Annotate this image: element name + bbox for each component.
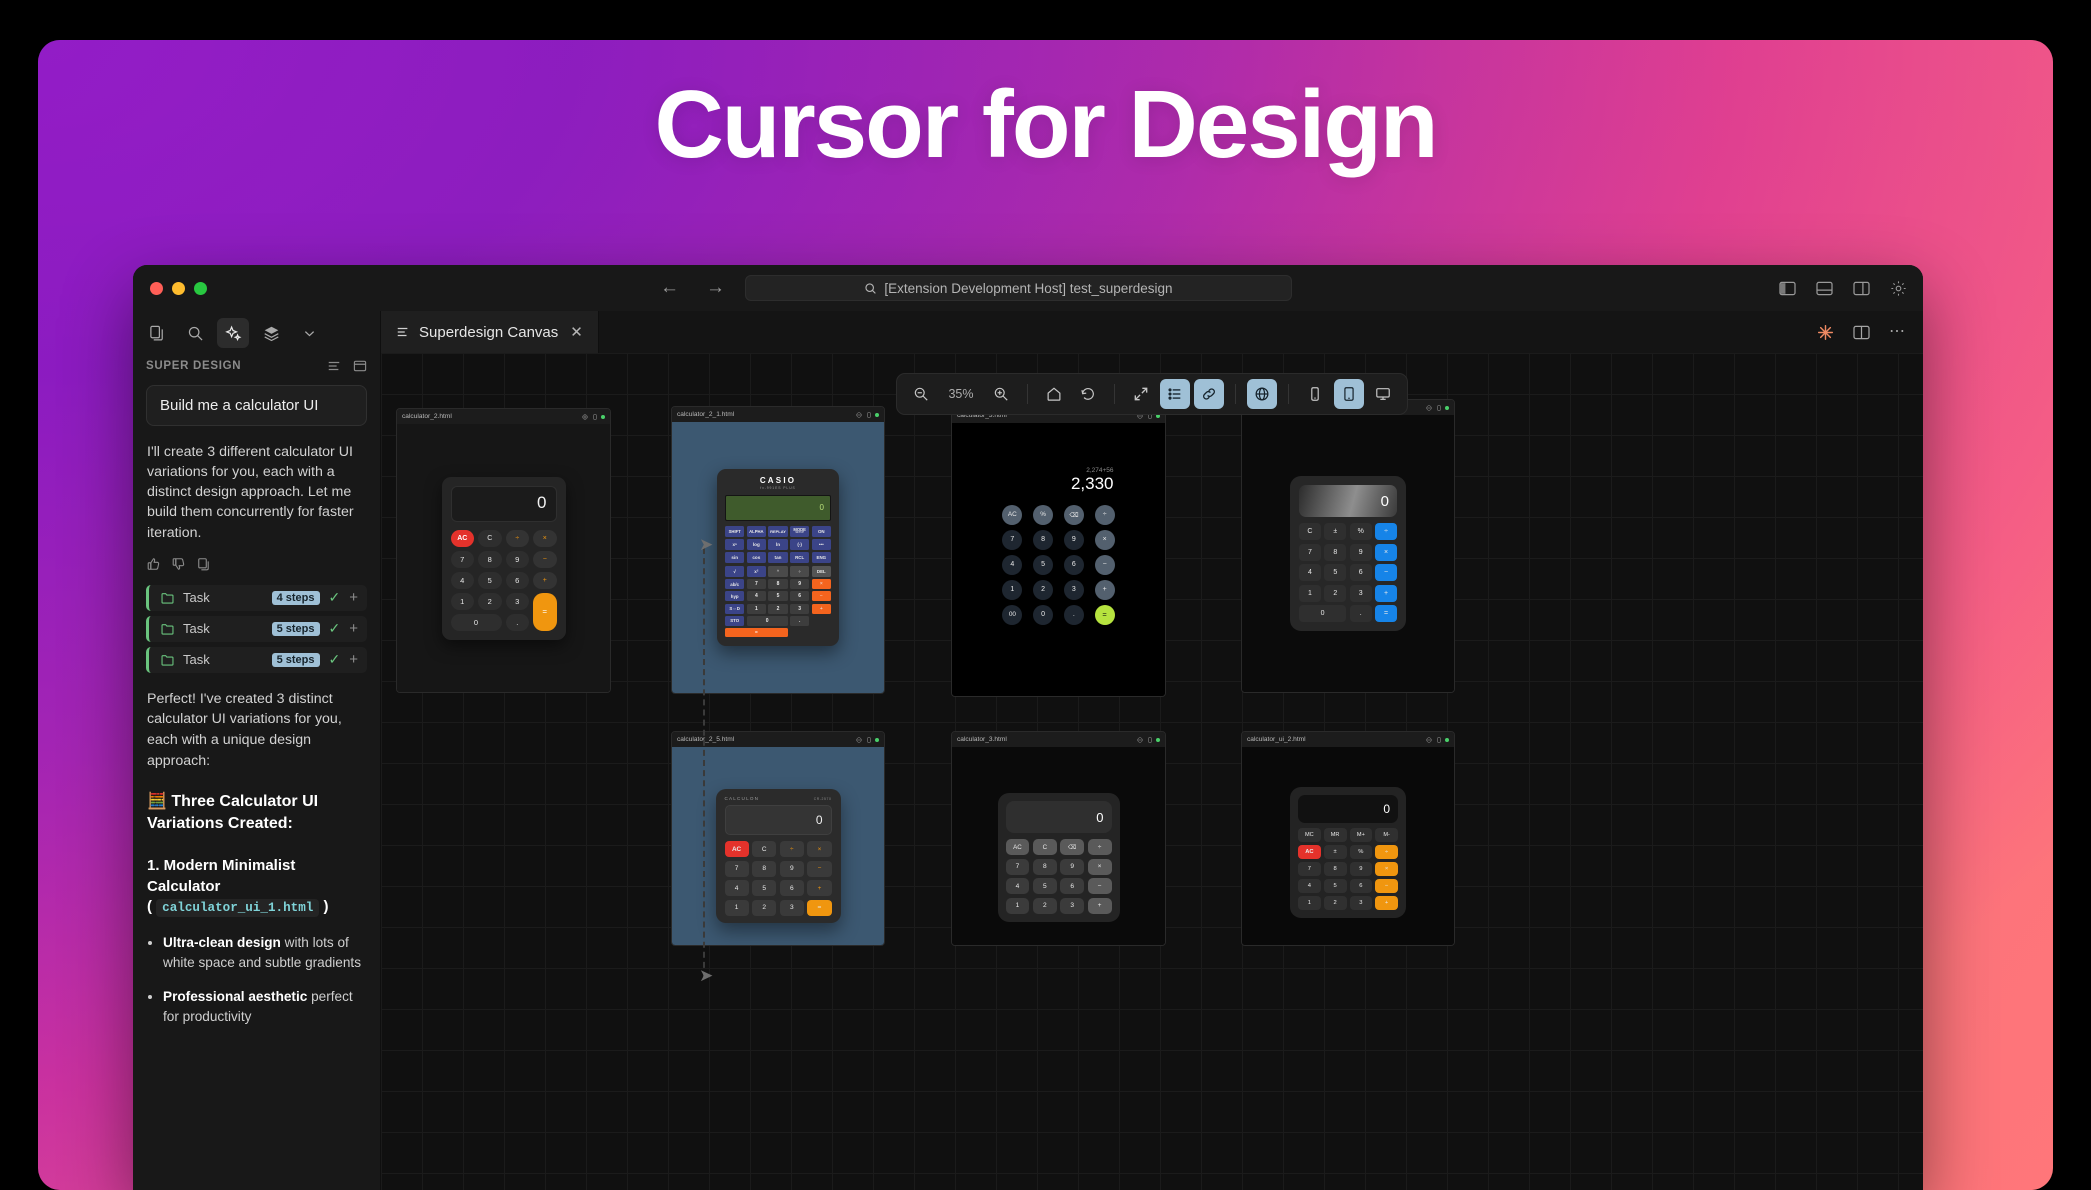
tablet-icon[interactable] bbox=[1147, 737, 1153, 743]
add-icon[interactable]: + bbox=[349, 589, 358, 606]
card-preview: 0 C ± % ÷ 7 8 9 × bbox=[1242, 415, 1454, 692]
key-mode[interactable]: MODESETUP bbox=[790, 526, 809, 537]
toolbar-separator bbox=[1027, 384, 1028, 404]
key-minus[interactable]: − bbox=[1375, 564, 1397, 581]
window-body: SUPER DESIGN Build me a calculator UI I'… bbox=[133, 311, 1923, 1190]
toolbar-separator bbox=[1288, 384, 1289, 404]
check-icon[interactable]: ✓ bbox=[329, 620, 341, 637]
key-6[interactable]: 6 bbox=[790, 591, 809, 601]
sparkle-icon[interactable] bbox=[217, 318, 249, 348]
lines-icon bbox=[396, 325, 410, 339]
key-5[interactable]: 5 bbox=[752, 880, 776, 896]
phone-icon[interactable] bbox=[1300, 379, 1330, 409]
card-icons[interactable] bbox=[856, 412, 879, 418]
list-item: Professional aesthetic perfect for produ… bbox=[163, 987, 366, 1028]
design-card[interactable]: calculator_3.html 2,274+56 bbox=[951, 407, 1166, 697]
key-4[interactable]: 4 bbox=[1299, 564, 1321, 581]
calculator-keypad[interactable]: AC C ÷ × 7 8 9 − 4 5 bbox=[725, 841, 832, 916]
bullet-bold: Ultra-clean design bbox=[163, 935, 281, 950]
tablet-icon[interactable] bbox=[1436, 737, 1442, 743]
key-3[interactable]: 3 bbox=[790, 604, 809, 614]
sidebar-header: SUPER DESIGN bbox=[133, 355, 380, 381]
globe-icon[interactable] bbox=[1137, 737, 1143, 743]
assistant-message: I'll create 3 different calculator UI va… bbox=[147, 442, 366, 543]
activity-bar[interactable] bbox=[133, 311, 380, 355]
key-4[interactable]: 4 bbox=[1002, 555, 1022, 575]
key-6[interactable]: 6 bbox=[1350, 564, 1372, 581]
design-canvas[interactable]: 35% bbox=[381, 353, 1923, 1190]
list-item: Ultra-clean design with lots of white sp… bbox=[163, 933, 366, 974]
key-power[interactable]: xⁿ bbox=[725, 539, 744, 550]
key-multiply[interactable]: × bbox=[812, 579, 831, 589]
key-ac[interactable]: AC bbox=[725, 841, 749, 857]
key-plus[interactable]: + bbox=[1375, 585, 1397, 602]
card-icons[interactable] bbox=[1426, 405, 1449, 411]
key-tan[interactable]: tan bbox=[768, 552, 787, 563]
key-plus[interactable]: + bbox=[533, 572, 557, 589]
display-value: 0 bbox=[1383, 802, 1390, 816]
key-3[interactable]: 3 bbox=[780, 900, 804, 916]
key-plus[interactable]: + bbox=[1088, 898, 1112, 914]
key-0[interactable]: 0 bbox=[1033, 605, 1053, 625]
calculator-display: 2,274+56 2,330 bbox=[1000, 467, 1118, 494]
key-del[interactable]: DEL bbox=[812, 566, 831, 577]
key-3[interactable]: 3 bbox=[1060, 898, 1084, 914]
task-row[interactable]: Task 5 steps ✓ + bbox=[146, 616, 367, 642]
key-5[interactable]: 5 bbox=[1324, 879, 1347, 893]
key-5[interactable]: 5 bbox=[768, 591, 787, 601]
key-3[interactable]: 3 bbox=[1064, 580, 1084, 600]
key-1[interactable]: 1 bbox=[1298, 896, 1321, 910]
expression-text: 2,274+56 bbox=[1000, 467, 1114, 474]
nav-arrows[interactable]: ← → bbox=[660, 277, 725, 299]
key-rcl[interactable]: RCL bbox=[790, 552, 809, 563]
key-sin[interactable]: sin bbox=[725, 552, 744, 563]
calculator-display: 0 bbox=[1298, 795, 1398, 823]
prompt-input[interactable]: Build me a calculator UI bbox=[146, 385, 367, 426]
status-dot bbox=[1445, 406, 1449, 410]
key-equals[interactable]: = bbox=[725, 628, 788, 637]
key-7[interactable]: 7 bbox=[1298, 862, 1321, 876]
key-alpha[interactable]: ALPHA bbox=[747, 526, 766, 537]
tablet-icon[interactable] bbox=[592, 414, 598, 420]
calculator-display: 0 bbox=[725, 805, 832, 835]
key-on[interactable]: ON bbox=[812, 526, 831, 537]
key-m-plus[interactable]: M+ bbox=[1350, 828, 1373, 842]
key-dot[interactable]: . bbox=[1350, 605, 1372, 622]
key-6[interactable]: 6 bbox=[1064, 555, 1084, 575]
key-log[interactable]: log bbox=[747, 539, 766, 550]
traffic-lights[interactable] bbox=[133, 282, 207, 295]
status-dot bbox=[1156, 738, 1160, 742]
key-6[interactable]: 6 bbox=[1350, 879, 1373, 893]
calculator-brand-row: CALCULON CR-2570 bbox=[725, 796, 832, 801]
calculator-body: 0 AC C ÷ × 7 8 9 − bbox=[442, 477, 566, 640]
message-reactions[interactable] bbox=[147, 557, 380, 571]
key-divide[interactable]: ÷ bbox=[1088, 839, 1112, 855]
key-negate[interactable]: (-) bbox=[790, 539, 809, 550]
task-row[interactable]: Task 5 steps ✓ + bbox=[146, 647, 367, 673]
calculator-body: 2,274+56 2,330 AC % ⌫ ÷ 7 8 bbox=[1000, 467, 1118, 625]
design-card[interactable]: calculator_ui_2.html 0 bbox=[1241, 731, 1455, 946]
key-c[interactable]: C bbox=[478, 530, 502, 547]
key-multiply[interactable]: × bbox=[1375, 544, 1397, 561]
key-0[interactable]: 0 bbox=[747, 616, 788, 626]
globe-icon[interactable] bbox=[1426, 405, 1432, 411]
key-multiply[interactable]: × bbox=[1375, 862, 1398, 876]
key-multiply[interactable]: × bbox=[807, 841, 831, 857]
key-8[interactable]: 8 bbox=[478, 551, 502, 568]
panel-icon[interactable] bbox=[353, 359, 367, 373]
thumbs-down-icon[interactable] bbox=[172, 557, 186, 571]
task-label: Task bbox=[183, 621, 263, 636]
tablet-icon[interactable] bbox=[866, 412, 872, 418]
key-1[interactable]: 1 bbox=[451, 593, 475, 610]
key-divide[interactable]: ÷ bbox=[1375, 845, 1398, 859]
variation-heading: 1. Modern Minimalist Calculator ( calcul… bbox=[147, 856, 366, 917]
key-sd[interactable]: S⇔D bbox=[725, 604, 744, 614]
key-hyp[interactable]: hyp bbox=[725, 591, 744, 601]
key-caret[interactable]: ^ bbox=[768, 566, 787, 577]
status-dot bbox=[875, 413, 879, 417]
key-0[interactable]: 0 bbox=[451, 614, 502, 631]
key-minus[interactable]: − bbox=[533, 551, 557, 568]
key-ac[interactable]: AC bbox=[1006, 839, 1030, 855]
zoom-level[interactable]: 35% bbox=[940, 387, 982, 401]
key-6[interactable]: 6 bbox=[506, 572, 530, 589]
key-7[interactable]: 7 bbox=[1002, 530, 1022, 550]
tab-label: Superdesign Canvas bbox=[419, 324, 558, 341]
key-dot[interactable]: . bbox=[506, 614, 530, 631]
key-divide[interactable]: ÷ bbox=[1375, 523, 1397, 540]
zoom-out-icon[interactable] bbox=[906, 379, 936, 409]
key-2[interactable]: 2 bbox=[478, 593, 502, 610]
section-heading: 🧮 Three Calculator UI Variations Created… bbox=[147, 791, 366, 834]
status-dot bbox=[601, 415, 605, 419]
globe-icon[interactable] bbox=[856, 412, 862, 418]
calculator-display: 0 bbox=[451, 486, 557, 522]
key-ac[interactable]: AC bbox=[1298, 845, 1321, 859]
key-equals[interactable]: = bbox=[1375, 605, 1397, 622]
design-card[interactable]: calculator_3.html 0 bbox=[951, 731, 1166, 946]
layers-icon[interactable] bbox=[255, 318, 287, 348]
sidebar-header-icons[interactable] bbox=[327, 359, 367, 373]
display-value: 0 bbox=[820, 503, 824, 512]
card-preview: 0 AC C ⌫ ÷ 7 8 9 × bbox=[952, 747, 1165, 945]
folder-icon bbox=[161, 623, 174, 635]
task-steps-badge: 4 steps bbox=[272, 591, 320, 605]
panel-left-icon[interactable] bbox=[1779, 281, 1796, 296]
panel-right-icon[interactable] bbox=[1853, 281, 1870, 296]
key-mc[interactable]: MC bbox=[1298, 828, 1321, 842]
key-eng[interactable]: ENG bbox=[812, 552, 831, 563]
key-7[interactable]: 7 bbox=[1006, 859, 1030, 875]
folder-icon bbox=[161, 654, 174, 666]
home-icon[interactable] bbox=[1039, 379, 1069, 409]
key-backspace[interactable]: ⌫ bbox=[1060, 839, 1084, 855]
key-blank bbox=[812, 616, 831, 626]
key-5[interactable]: 5 bbox=[478, 572, 502, 589]
minimize-window-button[interactable] bbox=[172, 282, 185, 295]
thumbs-up-icon[interactable] bbox=[147, 557, 161, 571]
key-ln[interactable]: ln bbox=[768, 539, 787, 550]
card-icons[interactable] bbox=[582, 414, 605, 420]
more-icon[interactable]: ⋯ bbox=[1889, 328, 1907, 336]
canvas-toolbar[interactable]: 35% bbox=[896, 373, 1408, 415]
tablet-icon[interactable] bbox=[1436, 405, 1442, 411]
card-titlebar: calculator_2_1.html bbox=[672, 407, 884, 422]
titlebar-right-icons[interactable] bbox=[1779, 280, 1907, 297]
key-ac[interactable]: AC bbox=[1002, 505, 1022, 525]
key-minus[interactable]: − bbox=[807, 861, 831, 877]
add-icon[interactable]: + bbox=[349, 651, 358, 668]
search-icon[interactable] bbox=[179, 318, 211, 348]
key-shift[interactable]: SHIFT bbox=[725, 526, 744, 537]
zoom-in-icon[interactable] bbox=[986, 379, 1016, 409]
status-dot bbox=[1445, 738, 1449, 742]
key-plus[interactable]: + bbox=[807, 880, 831, 896]
key-8[interactable]: 8 bbox=[768, 579, 787, 589]
key-1[interactable]: 1 bbox=[1006, 898, 1030, 914]
key-2[interactable]: 2 bbox=[1033, 580, 1053, 600]
key-9[interactable]: 9 bbox=[790, 579, 809, 589]
key-9[interactable]: 9 bbox=[506, 551, 530, 568]
key-c[interactable]: C bbox=[752, 841, 776, 857]
key-8[interactable]: 8 bbox=[752, 861, 776, 877]
card-filename: calculator_2.html bbox=[402, 413, 452, 420]
key-percent[interactable]: % bbox=[1350, 845, 1373, 859]
casio-display: 0 bbox=[725, 495, 831, 521]
summary-text: Perfect! I've created 3 distinct calcula… bbox=[147, 689, 366, 771]
key-minus[interactable]: − bbox=[1095, 555, 1115, 575]
key-1[interactable]: 1 bbox=[1299, 585, 1321, 602]
globe-icon[interactable] bbox=[856, 737, 862, 743]
key-sqrt[interactable]: √ bbox=[725, 566, 744, 577]
globe-icon[interactable] bbox=[1247, 379, 1277, 409]
task-label: Task bbox=[183, 652, 263, 667]
casio-model: fx-991ES PLUS bbox=[725, 486, 831, 490]
key-1[interactable]: 1 bbox=[1002, 580, 1022, 600]
panel-bottom-icon[interactable] bbox=[1816, 281, 1833, 296]
calculator-body: 0 MC MR M+ M- AC ± % ÷ bbox=[1290, 787, 1406, 918]
casio-calculator-body: CASIO fx-991ES PLUS 0 SHIFT ALPHA REPLAY… bbox=[717, 469, 839, 646]
window-titlebar: ← → [Extension Development Host] test_su… bbox=[133, 265, 1923, 311]
card-titlebar: calculator_3.html bbox=[952, 732, 1165, 747]
connector-arrow: ➤ bbox=[699, 966, 713, 986]
key-8[interactable]: 8 bbox=[1324, 862, 1347, 876]
list-view-icon[interactable] bbox=[1160, 379, 1190, 409]
sparkle-burst-icon[interactable] bbox=[1817, 324, 1834, 341]
paren-open: ( bbox=[147, 898, 152, 915]
key-1[interactable]: 1 bbox=[725, 900, 749, 916]
key-divide[interactable]: ÷ bbox=[780, 841, 804, 857]
calculator-keypad[interactable]: C ± % ÷ 7 8 9 × 4 5 bbox=[1299, 523, 1397, 622]
calculator-brand: CALCULON bbox=[725, 796, 760, 801]
calculator-keypad[interactable]: AC C ⌫ ÷ 7 8 9 × 4 5 bbox=[1006, 839, 1112, 914]
key-8[interactable]: 8 bbox=[1033, 530, 1053, 550]
expand-icon[interactable] bbox=[1126, 379, 1156, 409]
desktop-icon[interactable] bbox=[1368, 379, 1398, 409]
key-2[interactable]: 2 bbox=[752, 900, 776, 916]
key-9[interactable]: 9 bbox=[1350, 544, 1372, 561]
copy-icon[interactable] bbox=[197, 557, 211, 571]
calculator-keypad[interactable]: AC % ⌫ ÷ 7 8 9 × 4 5 bbox=[1000, 505, 1118, 625]
key-minus[interactable]: − bbox=[1088, 878, 1112, 894]
connector-line bbox=[703, 548, 705, 978]
key-7[interactable]: 7 bbox=[1299, 544, 1321, 561]
key-5[interactable]: 5 bbox=[1033, 878, 1057, 894]
key-equals[interactable]: = bbox=[1095, 605, 1115, 625]
card-filename: calculator_3.html bbox=[957, 736, 1007, 743]
key-2[interactable]: 2 bbox=[1033, 898, 1057, 914]
link-icon[interactable] bbox=[1194, 379, 1224, 409]
key-dots[interactable]: ••• bbox=[812, 539, 831, 550]
key-multiply[interactable]: × bbox=[1095, 530, 1115, 550]
key-percent[interactable]: % bbox=[1350, 523, 1372, 540]
check-icon[interactable]: ✓ bbox=[329, 589, 341, 606]
key-4[interactable]: 4 bbox=[725, 880, 749, 896]
key-4[interactable]: 4 bbox=[747, 591, 766, 601]
key-7[interactable]: 7 bbox=[451, 551, 475, 568]
key-c[interactable]: C bbox=[1033, 839, 1057, 855]
card-icons[interactable] bbox=[1426, 737, 1449, 743]
key-c[interactable]: C bbox=[1299, 523, 1321, 540]
globe-icon[interactable] bbox=[582, 414, 588, 420]
key-double-zero[interactable]: 00 bbox=[1002, 605, 1022, 625]
key-dot[interactable]: . bbox=[1064, 605, 1084, 625]
card-preview: 0 AC C ÷ × 7 8 9 − bbox=[397, 424, 610, 692]
key-equals[interactable]: = bbox=[807, 900, 831, 916]
key-2[interactable]: 2 bbox=[768, 604, 787, 614]
gear-icon[interactable] bbox=[1890, 280, 1907, 297]
key-7[interactable]: 7 bbox=[747, 579, 766, 589]
tablet-icon[interactable] bbox=[1334, 379, 1364, 409]
close-window-button[interactable] bbox=[150, 282, 163, 295]
screenshot-root: Cursor for Design ← → [Extension Develop… bbox=[0, 0, 2091, 1190]
maximize-window-button[interactable] bbox=[194, 282, 207, 295]
key-backspace[interactable]: ⌫ bbox=[1064, 505, 1084, 525]
calculator-keypad[interactable]: MC MR M+ M- AC ± % ÷ 7 8 bbox=[1298, 828, 1398, 910]
tab-superdesign-canvas[interactable]: Superdesign Canvas ✕ bbox=[381, 311, 599, 353]
key-4[interactable]: 4 bbox=[451, 572, 475, 589]
calculator-model: CR-2570 bbox=[814, 797, 832, 801]
task-list: Task 4 steps ✓ + Task 5 steps ✓ + bbox=[146, 585, 367, 673]
key-2[interactable]: 2 bbox=[1324, 896, 1347, 910]
key-4[interactable]: 4 bbox=[1006, 878, 1030, 894]
key-square[interactable]: x² bbox=[747, 566, 766, 577]
key-multiply[interactable]: × bbox=[1088, 859, 1112, 875]
casio-keypad[interactable]: SHIFT ALPHA REPLAY MODESETUP ON xⁿ log l… bbox=[725, 526, 831, 637]
back-arrow-icon[interactable]: ← bbox=[660, 277, 679, 299]
key-plus[interactable]: + bbox=[1375, 896, 1398, 910]
split-editor-icon[interactable] bbox=[1853, 325, 1870, 340]
key-divide[interactable]: ÷ bbox=[790, 566, 809, 577]
list-icon[interactable] bbox=[327, 359, 341, 373]
key-5[interactable]: 5 bbox=[1033, 555, 1053, 575]
variation-title: 1. Modern Minimalist Calculator bbox=[147, 857, 295, 894]
check-icon[interactable]: ✓ bbox=[329, 651, 341, 668]
add-icon[interactable]: + bbox=[349, 620, 358, 637]
key-mr[interactable]: MR bbox=[1324, 828, 1347, 842]
tabbar-actions[interactable]: ⋯ bbox=[1817, 311, 1923, 353]
key-2[interactable]: 2 bbox=[1324, 585, 1346, 602]
variation-filename[interactable]: calculator_ui_1.html bbox=[156, 899, 319, 917]
key-equals[interactable]: = bbox=[533, 593, 557, 631]
key-8[interactable]: 8 bbox=[1324, 544, 1346, 561]
abacus-icon: 🧮 bbox=[147, 793, 167, 810]
omnibox[interactable]: [Extension Development Host] test_superd… bbox=[745, 275, 1292, 301]
tablet-icon[interactable] bbox=[866, 737, 872, 743]
key-divide[interactable]: ÷ bbox=[1095, 505, 1115, 525]
key-multiply[interactable]: × bbox=[533, 530, 557, 547]
key-dot[interactable]: . bbox=[790, 616, 809, 626]
key-1[interactable]: 1 bbox=[747, 604, 766, 614]
key-abc[interactable]: ab/c bbox=[725, 579, 744, 589]
chevron-down-icon[interactable] bbox=[293, 318, 325, 348]
sidebar: SUPER DESIGN Build me a calculator UI I'… bbox=[133, 311, 381, 1190]
key-0[interactable]: 0 bbox=[1299, 605, 1346, 622]
key-plus-minus[interactable]: ± bbox=[1324, 845, 1347, 859]
calculator-keypad[interactable]: AC C ÷ × 7 8 9 − 4 5 bbox=[451, 530, 557, 631]
calculator-body: CALCULON CR-2570 0 AC C ÷ bbox=[716, 789, 841, 923]
key-divide[interactable]: ÷ bbox=[506, 530, 530, 547]
omnibox-text: [Extension Development Host] test_superd… bbox=[884, 281, 1172, 296]
key-9[interactable]: 9 bbox=[1064, 530, 1084, 550]
key-ac[interactable]: AC bbox=[451, 530, 475, 547]
task-label: Task bbox=[183, 590, 263, 605]
key-8[interactable]: 8 bbox=[1033, 859, 1057, 875]
key-3[interactable]: 3 bbox=[1350, 896, 1373, 910]
card-filename: calculator_2_1.html bbox=[677, 411, 734, 418]
key-replay[interactable]: REPLAY bbox=[768, 526, 787, 537]
design-card[interactable]: calculator_ui_1.html 0 bbox=[1241, 399, 1455, 693]
tab-bar: Superdesign Canvas ✕ ⋯ bbox=[381, 311, 1923, 353]
task-row[interactable]: Task 4 steps ✓ + bbox=[146, 585, 367, 611]
key-m-minus[interactable]: M- bbox=[1375, 828, 1398, 842]
card-icons[interactable] bbox=[1137, 737, 1160, 743]
key-9[interactable]: 9 bbox=[1350, 862, 1373, 876]
key-5[interactable]: 5 bbox=[1324, 564, 1346, 581]
toolbar-separator bbox=[1114, 384, 1115, 404]
card-filename: calculator_2_5.html bbox=[677, 736, 734, 743]
key-minus[interactable]: − bbox=[812, 591, 831, 601]
globe-icon[interactable] bbox=[1426, 737, 1432, 743]
section-heading-text: Three Calculator UI Variations Created: bbox=[147, 793, 318, 832]
key-plus-minus[interactable]: ± bbox=[1324, 523, 1346, 540]
forward-arrow-icon[interactable]: → bbox=[706, 277, 725, 299]
close-icon[interactable]: ✕ bbox=[570, 323, 583, 341]
files-icon[interactable] bbox=[141, 318, 173, 348]
key-7[interactable]: 7 bbox=[725, 861, 749, 877]
design-card[interactable]: calculator_2.html 0 bbox=[396, 408, 611, 693]
key-sto[interactable]: STO bbox=[725, 616, 744, 626]
key-6[interactable]: 6 bbox=[1060, 878, 1084, 894]
key-9[interactable]: 9 bbox=[1060, 859, 1084, 875]
key-cos[interactable]: cos bbox=[747, 552, 766, 563]
key-6[interactable]: 6 bbox=[780, 880, 804, 896]
key-minus[interactable]: − bbox=[1375, 879, 1398, 893]
key-plus[interactable]: + bbox=[812, 604, 831, 614]
key-plus[interactable]: + bbox=[1095, 580, 1115, 600]
reset-icon[interactable] bbox=[1073, 379, 1103, 409]
key-3[interactable]: 3 bbox=[506, 593, 530, 610]
key-percent[interactable]: % bbox=[1033, 505, 1053, 525]
key-4[interactable]: 4 bbox=[1298, 879, 1321, 893]
key-3[interactable]: 3 bbox=[1350, 585, 1372, 602]
card-icons[interactable] bbox=[856, 737, 879, 743]
app-window: ← → [Extension Development Host] test_su… bbox=[133, 265, 1923, 1190]
key-9[interactable]: 9 bbox=[780, 861, 804, 877]
